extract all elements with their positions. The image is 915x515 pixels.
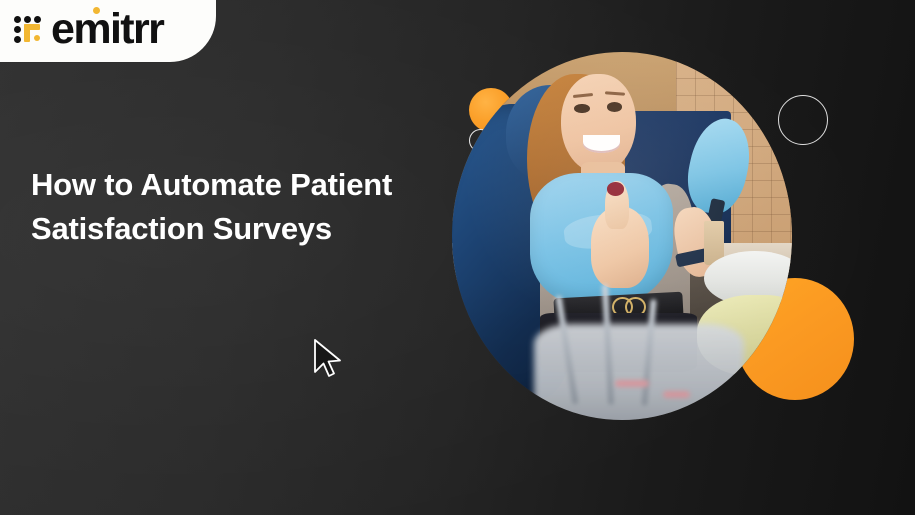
- emitrr-dot-grid-icon: [14, 15, 41, 42]
- page-title-line-2: Satisfaction Surveys: [31, 207, 461, 251]
- brand-wordmark: emitrr: [51, 8, 163, 51]
- page-title-line-1: How to Automate Patient: [31, 163, 461, 207]
- brand-logo-plate[interactable]: emitrr: [0, 0, 216, 62]
- hero-photo: [452, 52, 792, 420]
- promo-banner: emitrr How to Automate Patient Satisfact…: [0, 0, 915, 515]
- wordmark-i-tittle-icon: [93, 7, 100, 14]
- mouse-pointer-icon: [312, 338, 346, 380]
- hero-photo-scene: [452, 52, 792, 420]
- page-title: How to Automate Patient Satisfaction Sur…: [31, 163, 461, 251]
- brand-logo[interactable]: emitrr: [0, 7, 163, 62]
